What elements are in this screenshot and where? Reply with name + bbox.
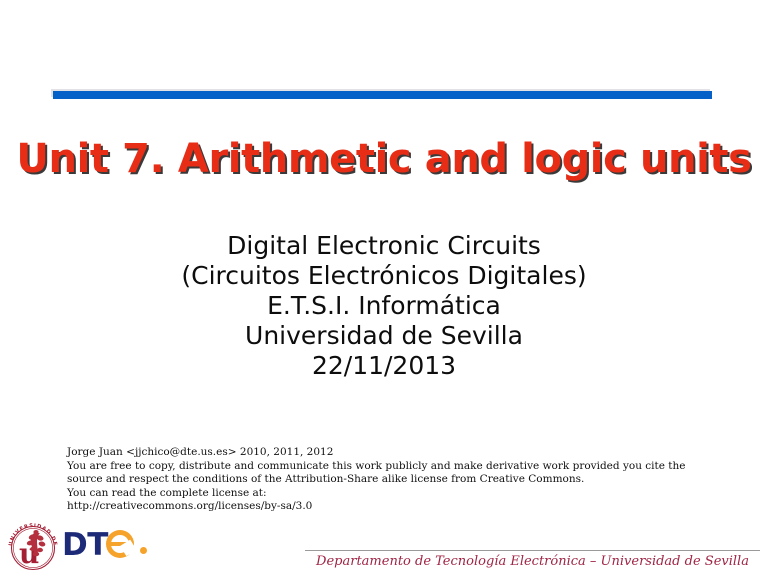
- subtitle-line-course-es: (Circuitos Electrónicos Digitales): [0, 261, 768, 291]
- subtitle-line-date: 22/11/2013: [0, 351, 768, 381]
- footer-department: Departamento de Tecnología Electrónica –…: [305, 554, 760, 569]
- title-top-rule: [53, 91, 712, 99]
- universidad-de-sevilla-seal-icon: UNIVERSIDAD DE SEVILLA u: [7, 517, 59, 571]
- license-terms: You are free to copy, distribute and com…: [67, 460, 703, 487]
- subtitle-line-course-en: Digital Electronic Circuits: [0, 231, 768, 261]
- subtitle-block: Digital Electronic Circuits (Circuitos E…: [0, 231, 768, 381]
- dte-logo: DT: [62, 528, 157, 562]
- license-url[interactable]: http://creativecommons.org/licenses/by-s…: [67, 500, 717, 514]
- license-read-at: You can read the complete license at:: [67, 487, 717, 501]
- license-author: Jorge Juan <jjchico@dte.us.es> 2010, 201…: [67, 446, 717, 460]
- slide-canvas: Unit 7. Arithmetic and logic units Digit…: [0, 0, 768, 575]
- dte-wordmark: DT: [62, 528, 108, 562]
- dte-e-mark-icon: [106, 530, 134, 558]
- subtitle-line-school: E.T.S.I. Informática: [0, 291, 768, 321]
- license-block: Jorge Juan <jjchico@dte.us.es> 2010, 201…: [67, 446, 717, 514]
- subtitle-line-university: Universidad de Sevilla: [0, 321, 768, 351]
- footer-divider: [305, 550, 760, 551]
- page-title: Unit 7. Arithmetic and logic units: [0, 136, 768, 182]
- dte-dot-icon: [140, 547, 147, 554]
